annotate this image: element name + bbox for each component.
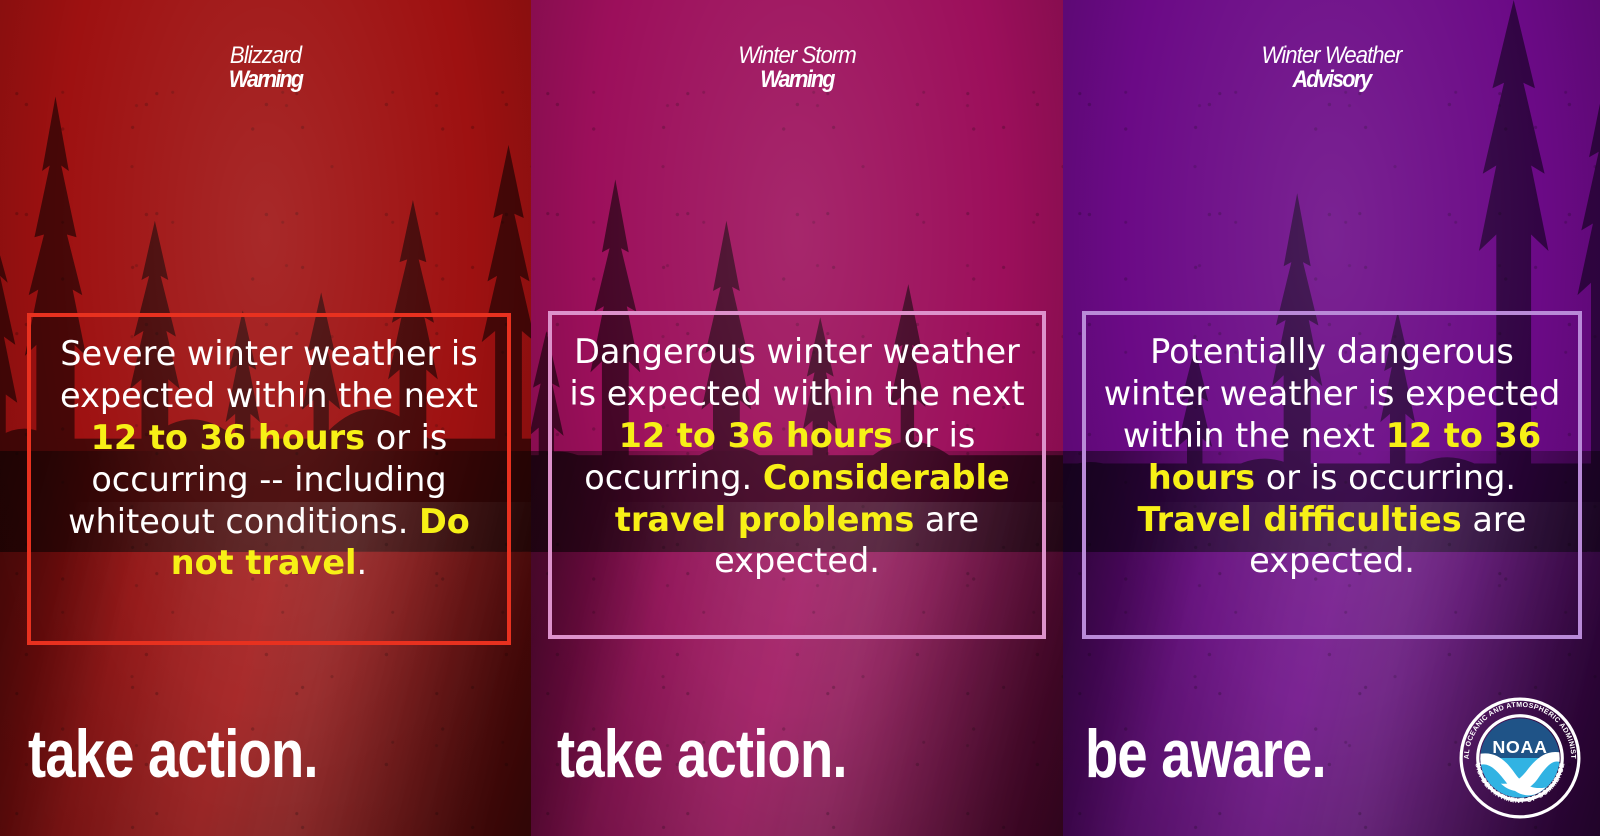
highlighted-phrase: 12 to 36 hours	[91, 418, 365, 457]
body-text-run: or is occurring.	[1255, 458, 1516, 497]
title-line-2: Advisory	[1090, 69, 1573, 92]
winter-weather-infographic: Blizzard Warning Severe winter weather i…	[0, 0, 1600, 836]
noaa-center-text: NOAA	[1492, 737, 1547, 757]
title-line-1: Blizzard	[21, 44, 510, 67]
call-to-action: take action.	[28, 720, 318, 788]
title-line-1: Winter Storm	[552, 44, 1041, 67]
call-to-action: take action.	[557, 720, 847, 788]
call-to-action: be aware.	[1085, 720, 1326, 788]
title-line-2: Warning	[558, 69, 1037, 92]
body-text-run: .	[357, 543, 368, 582]
panel-winter-weather-advisory: Winter Weather Advisory Potentially dang…	[1063, 0, 1600, 836]
highlighted-phrase: 12 to 36 hours	[619, 416, 893, 455]
panel-blizzard-warning: Blizzard Warning Severe winter weather i…	[0, 0, 531, 836]
body-text-box: Dangerous winter weather is expected wit…	[548, 311, 1046, 639]
noaa-seal-logo: NOAA NATIONAL OCEANIC AND ATMOSPHERIC AD…	[1456, 694, 1584, 822]
title-line-2: Warning	[27, 69, 505, 92]
body-text-run: Severe winter weather is expected within…	[60, 334, 478, 415]
body-text-box: Potentially dangerous winter weather is …	[1082, 311, 1582, 639]
body-text-run: Dangerous winter weather is expected wit…	[569, 332, 1024, 413]
panel-winter-storm-warning: Winter Storm Warning Dangerous winter we…	[531, 0, 1063, 836]
panel-title-block: Winter Weather Advisory	[1063, 0, 1600, 92]
title-line-1: Winter Weather	[1084, 44, 1578, 67]
highlighted-phrase: Travel difficulties	[1138, 500, 1462, 539]
panel-title-block: Winter Storm Warning	[531, 0, 1063, 92]
panel-title-block: Blizzard Warning	[0, 0, 531, 92]
body-text-box: Severe winter weather is expected within…	[27, 313, 511, 645]
